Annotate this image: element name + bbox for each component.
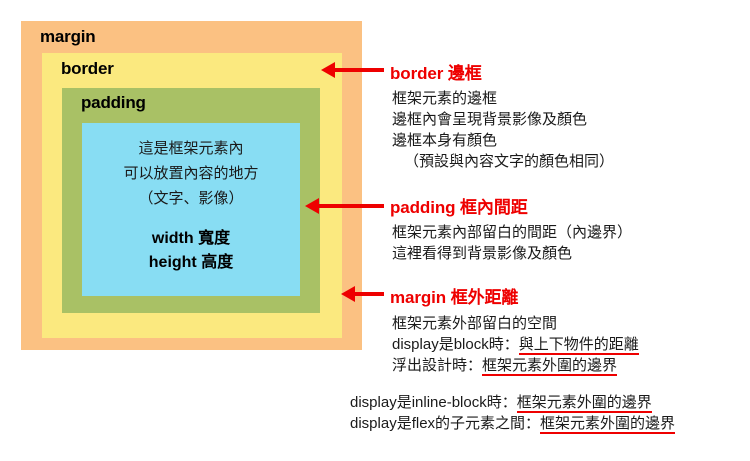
content-dimensions: width 寬度 height 高度 xyxy=(82,227,300,275)
arrow-to-border-box xyxy=(334,68,384,72)
annotation-line: 邊框本身有顏色 xyxy=(392,130,614,151)
annotation-body-padding: 框架元素內部留白的間距（內邊界） 這裡看得到背景影像及顏色 xyxy=(392,222,632,264)
content-line: 這是框架元素內 xyxy=(82,136,300,161)
content-line: （文字、影像） xyxy=(82,186,300,211)
annotation-body-display-rules: display是inline-block時：框架元素外圍的邊界 display是… xyxy=(350,392,675,434)
arrow-to-padding-box xyxy=(318,204,384,208)
annotation-heading-border: border 邊框 xyxy=(390,59,482,84)
rule-underlined: 框架元素外圍的邊界 xyxy=(517,394,652,413)
rule-underlined: 框架元素外圍的邊界 xyxy=(540,415,675,434)
annotation-rule-line: display是flex的子元素之間：框架元素外圍的邊界 xyxy=(350,413,675,434)
annotation-heading-padding: padding 框內間距 xyxy=(390,193,528,218)
rule-prefix: display是flex的子元素之間： xyxy=(350,415,540,432)
content-line: 可以放置內容的地方 xyxy=(82,161,300,186)
rule-prefix: 浮出設計時： xyxy=(392,357,482,374)
margin-box: margin border padding 這是框架元素內 可以放置內容的地方 … xyxy=(21,21,362,350)
rule-prefix: display是inline-block時： xyxy=(350,394,517,411)
rule-prefix: display是block時： xyxy=(392,336,519,353)
annotation-rule-line: display是inline-block時：框架元素外圍的邊界 xyxy=(350,392,675,413)
annotation-line: 框架元素外部留白的空間 xyxy=(392,313,639,334)
margin-label: margin xyxy=(40,27,95,47)
border-label: border xyxy=(61,59,114,79)
annotation-line: （預設與內容文字的顏色相同） xyxy=(392,151,614,172)
annotation-heading-margin: margin 框外距離 xyxy=(390,283,518,308)
height-dimension-line: height 高度 xyxy=(82,251,300,275)
padding-box: padding 這是框架元素內 可以放置內容的地方 （文字、影像） width … xyxy=(62,88,320,313)
rule-underlined: 與上下物件的距離 xyxy=(519,336,639,355)
width-dimension-line: width 寬度 xyxy=(82,227,300,251)
annotation-line: 框架元素內部留白的間距（內邊界） xyxy=(392,222,632,243)
annotation-rule-line: display是block時：與上下物件的距離 xyxy=(392,334,639,355)
annotation-line: 邊框內會呈現背景影像及顏色 xyxy=(392,109,614,130)
annotation-rule-line: 浮出設計時：框架元素外圍的邊界 xyxy=(392,355,639,376)
annotation-body-margin: 框架元素外部留白的空間 display是block時：與上下物件的距離 浮出設計… xyxy=(392,313,639,376)
border-box: border padding 這是框架元素內 可以放置內容的地方 （文字、影像）… xyxy=(42,53,342,338)
content-box: 這是框架元素內 可以放置內容的地方 （文字、影像） width 寬度 heigh… xyxy=(82,123,300,296)
content-description: 這是框架元素內 可以放置內容的地方 （文字、影像） xyxy=(82,136,300,211)
annotation-line: 框架元素的邊框 xyxy=(392,88,614,109)
annotation-line: 這裡看得到背景影像及顏色 xyxy=(392,243,632,264)
rule-underlined: 框架元素外圍的邊界 xyxy=(482,357,617,376)
annotation-body-border: 框架元素的邊框 邊框內會呈現背景影像及顏色 邊框本身有顏色 （預設與內容文字的顏… xyxy=(392,88,614,172)
arrow-to-margin-box xyxy=(354,292,384,296)
box-model-diagram-page: margin border padding 這是框架元素內 可以放置內容的地方 … xyxy=(0,0,750,461)
padding-label: padding xyxy=(81,93,146,113)
